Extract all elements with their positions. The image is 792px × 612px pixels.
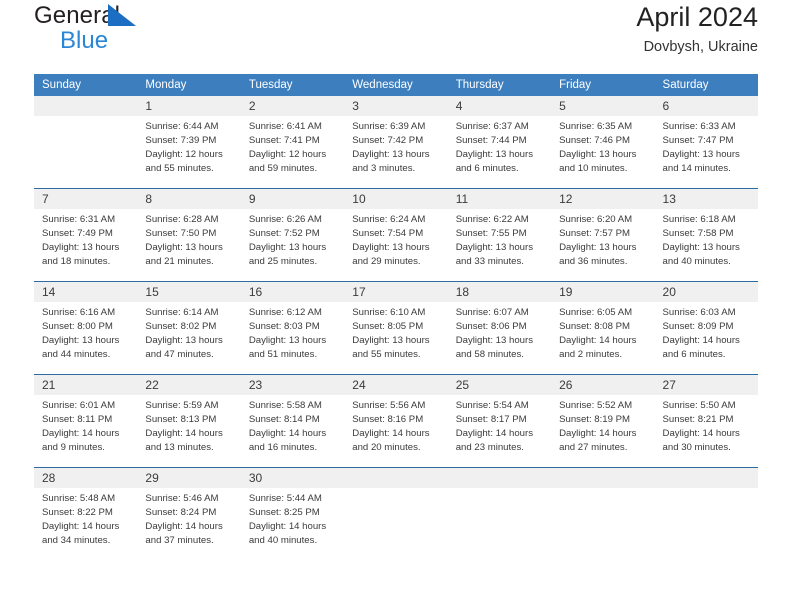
day-detail-line: Sunset: 8:16 PM [352,413,441,427]
day-detail-cell[interactable]: Sunrise: 6:20 AMSunset: 7:57 PMDaylight:… [551,209,654,280]
day-detail-line: and 40 minutes. [249,534,338,548]
day-detail-cell-empty [344,488,447,559]
day-detail-cell[interactable]: Sunrise: 6:35 AMSunset: 7:46 PMDaylight:… [551,116,654,187]
day-detail-cell[interactable]: Sunrise: 6:33 AMSunset: 7:47 PMDaylight:… [655,116,758,187]
day-detail-cell[interactable]: Sunrise: 6:03 AMSunset: 8:09 PMDaylight:… [655,302,758,373]
page-subtitle: Dovbysh, Ukraine [636,39,758,55]
day-detail-cell-empty [551,488,654,559]
weekday-header-saturday: Saturday [655,74,758,96]
day-detail-line: Sunset: 7:49 PM [42,227,131,241]
day-number-cell[interactable]: 17 [344,282,447,302]
day-detail-cell[interactable]: Sunrise: 5:54 AMSunset: 8:17 PMDaylight:… [448,395,551,466]
day-number-cell[interactable]: 19 [551,282,654,302]
triangle-icon [108,4,136,26]
day-detail-line: and 6 minutes. [456,162,545,176]
day-detail-line: Sunrise: 6:16 AM [42,306,131,320]
weekday-header-monday: Monday [137,74,240,96]
day-detail-cell[interactable]: Sunrise: 5:50 AMSunset: 8:21 PMDaylight:… [655,395,758,466]
day-number-cell[interactable]: 25 [448,375,551,395]
day-detail-line: Sunset: 7:42 PM [352,134,441,148]
day-detail-line: Sunrise: 5:44 AM [249,492,338,506]
day-detail-line: and 30 minutes. [663,441,752,455]
day-detail-line: Sunset: 8:24 PM [145,506,234,520]
day-number-cell-empty [448,468,551,488]
calendar-page: General Blue April 2024 Dovbysh, Ukraine… [0,0,792,612]
day-detail-cell[interactable]: Sunrise: 5:48 AMSunset: 8:22 PMDaylight:… [34,488,137,559]
day-detail-line: Sunrise: 5:50 AM [663,399,752,413]
day-detail-line: and 9 minutes. [42,441,131,455]
weekday-header-thursday: Thursday [448,74,551,96]
day-number-cell[interactable]: 28 [34,468,137,488]
day-detail-cell[interactable]: Sunrise: 6:31 AMSunset: 7:49 PMDaylight:… [34,209,137,280]
day-detail-line: Sunrise: 5:56 AM [352,399,441,413]
day-detail-line: and 10 minutes. [559,162,648,176]
day-detail-line: and 40 minutes. [663,255,752,269]
day-detail-line: and 33 minutes. [456,255,545,269]
day-number-cell-empty [551,468,654,488]
day-detail-line: and 16 minutes. [249,441,338,455]
day-detail-line: and 2 minutes. [559,348,648,362]
day-detail-line: Daylight: 13 hours [249,241,338,255]
calendar-body: 123456Sunrise: 6:44 AMSunset: 7:39 PMDay… [34,96,758,559]
day-detail-line: Daylight: 13 hours [559,241,648,255]
day-detail-line: Sunset: 8:19 PM [559,413,648,427]
day-number-row: 14151617181920 [34,282,758,302]
day-number-row: 21222324252627 [34,375,758,395]
day-detail-line: Daylight: 14 hours [663,427,752,441]
day-detail-row: Sunrise: 6:16 AMSunset: 8:00 PMDaylight:… [34,302,758,373]
day-detail-line: Sunrise: 6:44 AM [145,120,234,134]
day-detail-line: Sunrise: 5:59 AM [145,399,234,413]
day-detail-line: Sunrise: 5:52 AM [559,399,648,413]
day-detail-line: and 55 minutes. [352,348,441,362]
day-number-cell[interactable]: 23 [241,375,344,395]
day-detail-line: Daylight: 12 hours [145,148,234,162]
day-detail-line: Sunrise: 5:58 AM [249,399,338,413]
day-detail-line: Sunrise: 6:35 AM [559,120,648,134]
day-detail-line: Sunrise: 6:24 AM [352,213,441,227]
day-number-cell[interactable]: 8 [137,189,240,209]
day-detail-line: and 25 minutes. [249,255,338,269]
day-detail-line: and 29 minutes. [352,255,441,269]
day-detail-line: Daylight: 14 hours [352,427,441,441]
day-detail-row: Sunrise: 6:44 AMSunset: 7:39 PMDaylight:… [34,116,758,187]
weekday-header-sunday: Sunday [34,74,137,96]
day-number-cell[interactable]: 27 [655,375,758,395]
day-number-cell[interactable]: 14 [34,282,137,302]
day-detail-line: Daylight: 12 hours [249,148,338,162]
day-detail-line: Sunset: 7:47 PM [663,134,752,148]
day-number-cell[interactable]: 21 [34,375,137,395]
day-number-cell[interactable]: 16 [241,282,344,302]
day-detail-line: Daylight: 13 hours [352,241,441,255]
day-detail-line: Sunset: 7:46 PM [559,134,648,148]
day-detail-line: and 13 minutes. [145,441,234,455]
day-detail-cell[interactable]: Sunrise: 5:46 AMSunset: 8:24 PMDaylight:… [137,488,240,559]
day-detail-line: Sunset: 7:39 PM [145,134,234,148]
day-detail-line: and 37 minutes. [145,534,234,548]
day-detail-cell[interactable]: Sunrise: 6:18 AMSunset: 7:58 PMDaylight:… [655,209,758,280]
day-detail-line: Daylight: 13 hours [145,334,234,348]
day-detail-line: and 18 minutes. [42,255,131,269]
calendar-header-row: SundayMondayTuesdayWednesdayThursdayFrid… [34,74,758,96]
day-detail-cell[interactable]: Sunrise: 6:05 AMSunset: 8:08 PMDaylight:… [551,302,654,373]
day-detail-line: Daylight: 14 hours [559,334,648,348]
day-number-cell[interactable]: 4 [448,96,551,116]
day-detail-line: Sunrise: 6:12 AM [249,306,338,320]
day-detail-row: Sunrise: 6:01 AMSunset: 8:11 PMDaylight:… [34,395,758,466]
page-title: April 2024 [636,2,758,32]
day-detail-cell[interactable]: Sunrise: 5:59 AMSunset: 8:13 PMDaylight:… [137,395,240,466]
day-detail-line: Daylight: 13 hours [352,148,441,162]
day-detail-line: Sunrise: 6:14 AM [145,306,234,320]
day-number-cell[interactable]: 6 [655,96,758,116]
day-detail-line: and 44 minutes. [42,348,131,362]
day-detail-cell[interactable]: Sunrise: 6:14 AMSunset: 8:02 PMDaylight:… [137,302,240,373]
day-number-cell[interactable]: 11 [448,189,551,209]
day-number-cell[interactable]: 20 [655,282,758,302]
day-detail-line: Sunrise: 5:46 AM [145,492,234,506]
day-detail-line: Sunset: 8:00 PM [42,320,131,334]
day-detail-cell-empty [448,488,551,559]
day-number-cell-empty [344,468,447,488]
day-detail-line: Daylight: 13 hours [145,241,234,255]
day-number-cell[interactable]: 12 [551,189,654,209]
day-detail-line: and 6 minutes. [663,348,752,362]
day-detail-line: Sunset: 8:09 PM [663,320,752,334]
day-detail-line: Daylight: 14 hours [456,427,545,441]
day-detail-cell[interactable]: Sunrise: 5:56 AMSunset: 8:16 PMDaylight:… [344,395,447,466]
day-number-cell[interactable]: 15 [137,282,240,302]
day-number-cell[interactable]: 18 [448,282,551,302]
day-number-cell[interactable]: 3 [344,96,447,116]
day-number-cell[interactable]: 1 [137,96,240,116]
day-detail-cell[interactable]: Sunrise: 6:16 AMSunset: 8:00 PMDaylight:… [34,302,137,373]
day-detail-line: and 58 minutes. [456,348,545,362]
day-detail-line: Sunset: 7:55 PM [456,227,545,241]
day-detail-line: Sunrise: 6:07 AM [456,306,545,320]
day-number-cell[interactable]: 26 [551,375,654,395]
day-detail-line: Daylight: 13 hours [559,148,648,162]
day-detail-line: Daylight: 13 hours [663,241,752,255]
day-detail-line: and 51 minutes. [249,348,338,362]
day-detail-line: Sunrise: 6:31 AM [42,213,131,227]
day-detail-line: Sunrise: 6:18 AM [663,213,752,227]
day-detail-line: Sunrise: 6:10 AM [352,306,441,320]
day-detail-line: Sunrise: 6:26 AM [249,213,338,227]
day-detail-line: Daylight: 13 hours [663,148,752,162]
day-detail-line: and 55 minutes. [145,162,234,176]
day-detail-line: and 47 minutes. [145,348,234,362]
day-detail-line: Daylight: 14 hours [249,427,338,441]
day-detail-line: Daylight: 14 hours [249,520,338,534]
day-number-row: 123456 [34,96,758,116]
day-detail-cell[interactable]: Sunrise: 6:44 AMSunset: 7:39 PMDaylight:… [137,116,240,187]
day-detail-line: and 27 minutes. [559,441,648,455]
page-header: General Blue April 2024 Dovbysh, Ukraine [34,0,758,74]
day-detail-line: Sunset: 8:21 PM [663,413,752,427]
day-detail-line: Sunrise: 6:03 AM [663,306,752,320]
day-detail-cell-empty [655,488,758,559]
day-detail-cell[interactable]: Sunrise: 5:58 AMSunset: 8:14 PMDaylight:… [241,395,344,466]
day-detail-line: Sunrise: 6:39 AM [352,120,441,134]
day-detail-line: Sunrise: 6:05 AM [559,306,648,320]
day-detail-line: Sunset: 8:11 PM [42,413,131,427]
day-detail-line: Daylight: 13 hours [352,334,441,348]
day-detail-line: Daylight: 14 hours [663,334,752,348]
day-detail-line: and 14 minutes. [663,162,752,176]
day-number-cell-empty [655,468,758,488]
day-detail-line: and 21 minutes. [145,255,234,269]
weekday-header-tuesday: Tuesday [241,74,344,96]
day-detail-cell[interactable]: Sunrise: 6:07 AMSunset: 8:06 PMDaylight:… [448,302,551,373]
day-detail-line: Sunset: 7:44 PM [456,134,545,148]
day-detail-line: Sunset: 8:14 PM [249,413,338,427]
brand-name-blue: Blue [60,29,120,53]
day-detail-row: Sunrise: 5:48 AMSunset: 8:22 PMDaylight:… [34,488,758,559]
day-number-cell[interactable]: 2 [241,96,344,116]
day-detail-cell[interactable]: Sunrise: 5:52 AMSunset: 8:19 PMDaylight:… [551,395,654,466]
day-detail-line: Sunset: 7:50 PM [145,227,234,241]
weekday-header-friday: Friday [551,74,654,96]
day-detail-line: Daylight: 13 hours [42,334,131,348]
day-detail-cell-empty [34,116,137,187]
day-detail-line: Daylight: 13 hours [42,241,131,255]
day-detail-line: Sunrise: 6:37 AM [456,120,545,134]
day-detail-line: Sunrise: 5:48 AM [42,492,131,506]
day-detail-line: Daylight: 14 hours [145,427,234,441]
day-detail-line: Sunrise: 6:28 AM [145,213,234,227]
day-detail-line: Sunset: 7:41 PM [249,134,338,148]
day-detail-line: Sunset: 8:05 PM [352,320,441,334]
day-detail-line: Sunrise: 6:33 AM [663,120,752,134]
day-detail-cell[interactable]: Sunrise: 6:22 AMSunset: 7:55 PMDaylight:… [448,209,551,280]
title-block: April 2024 Dovbysh, Ukraine [636,0,758,55]
day-number-cell[interactable]: 10 [344,189,447,209]
day-detail-line: Sunrise: 5:54 AM [456,399,545,413]
day-detail-line: and 36 minutes. [559,255,648,269]
day-detail-line: Sunset: 8:08 PM [559,320,648,334]
day-detail-line: and 23 minutes. [456,441,545,455]
day-detail-line: and 34 minutes. [42,534,131,548]
day-detail-row: Sunrise: 6:31 AMSunset: 7:49 PMDaylight:… [34,209,758,280]
day-detail-line: Sunset: 8:02 PM [145,320,234,334]
day-detail-cell[interactable]: Sunrise: 6:26 AMSunset: 7:52 PMDaylight:… [241,209,344,280]
weekday-header-wednesday: Wednesday [344,74,447,96]
day-detail-cell[interactable]: Sunrise: 6:39 AMSunset: 7:42 PMDaylight:… [344,116,447,187]
day-detail-line: Daylight: 14 hours [559,427,648,441]
day-detail-line: Daylight: 13 hours [249,334,338,348]
day-detail-cell[interactable]: Sunrise: 6:10 AMSunset: 8:05 PMDaylight:… [344,302,447,373]
day-detail-line: Sunrise: 6:41 AM [249,120,338,134]
day-detail-line: Daylight: 14 hours [42,520,131,534]
day-number-cell[interactable]: 5 [551,96,654,116]
day-detail-line: Sunrise: 6:01 AM [42,399,131,413]
day-number-cell[interactable]: 7 [34,189,137,209]
day-detail-line: Sunset: 8:03 PM [249,320,338,334]
day-detail-line: Daylight: 14 hours [42,427,131,441]
day-number-row: 282930 [34,468,758,488]
day-detail-line: and 3 minutes. [352,162,441,176]
day-detail-cell[interactable]: Sunrise: 5:44 AMSunset: 8:25 PMDaylight:… [241,488,344,559]
day-detail-line: Sunset: 8:25 PM [249,506,338,520]
day-detail-line: Daylight: 13 hours [456,334,545,348]
brand-name-general: General [34,4,120,28]
day-detail-cell[interactable]: Sunrise: 6:41 AMSunset: 7:41 PMDaylight:… [241,116,344,187]
day-number-cell[interactable]: 22 [137,375,240,395]
day-detail-line: Sunrise: 6:20 AM [559,213,648,227]
day-detail-cell[interactable]: Sunrise: 6:24 AMSunset: 7:54 PMDaylight:… [344,209,447,280]
day-detail-cell[interactable]: Sunrise: 6:01 AMSunset: 8:11 PMDaylight:… [34,395,137,466]
day-number-cell[interactable]: 13 [655,189,758,209]
day-detail-line: Sunrise: 6:22 AM [456,213,545,227]
brand-logo[interactable]: General Blue [34,0,120,53]
day-detail-line: Daylight: 13 hours [456,148,545,162]
calendar-table: SundayMondayTuesdayWednesdayThursdayFrid… [34,74,758,559]
day-number-cell[interactable]: 24 [344,375,447,395]
day-detail-cell[interactable]: Sunrise: 6:12 AMSunset: 8:03 PMDaylight:… [241,302,344,373]
day-detail-line: Sunset: 7:58 PM [663,227,752,241]
day-number-cell[interactable]: 30 [241,468,344,488]
day-detail-line: Sunset: 8:22 PM [42,506,131,520]
day-detail-line: Daylight: 14 hours [145,520,234,534]
day-number-cell[interactable]: 29 [137,468,240,488]
day-detail-cell[interactable]: Sunrise: 6:28 AMSunset: 7:50 PMDaylight:… [137,209,240,280]
day-detail-cell[interactable]: Sunrise: 6:37 AMSunset: 7:44 PMDaylight:… [448,116,551,187]
day-detail-line: Sunset: 8:06 PM [456,320,545,334]
day-detail-line: and 20 minutes. [352,441,441,455]
day-detail-line: Sunset: 7:52 PM [249,227,338,241]
day-detail-line: Daylight: 13 hours [456,241,545,255]
day-number-cell-empty [34,96,137,116]
day-detail-line: Sunset: 8:17 PM [456,413,545,427]
day-detail-line: Sunset: 7:54 PM [352,227,441,241]
day-detail-line: Sunset: 7:57 PM [559,227,648,241]
weekday-header-row: SundayMondayTuesdayWednesdayThursdayFrid… [34,74,758,96]
day-number-row: 78910111213 [34,189,758,209]
day-detail-line: Sunset: 8:13 PM [145,413,234,427]
day-number-cell[interactable]: 9 [241,189,344,209]
day-detail-line: and 59 minutes. [249,162,338,176]
